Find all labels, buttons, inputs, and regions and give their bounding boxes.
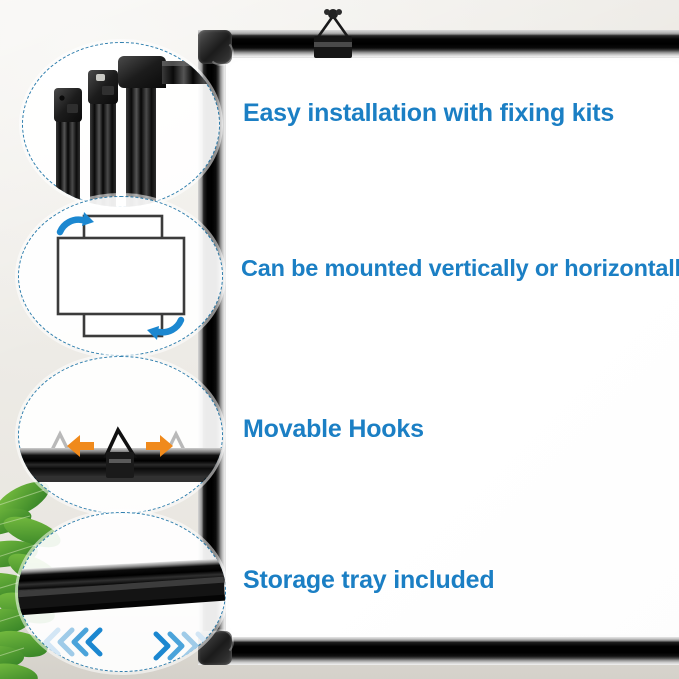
rotate-orientation-icon xyxy=(18,196,223,356)
frame-corner-brackets-icon xyxy=(22,42,220,207)
feature-label-fixing-kits: Easy installation with fixing kits xyxy=(243,99,614,128)
callout-storage-tray xyxy=(18,512,226,672)
callout-orientation xyxy=(18,196,223,356)
product-infographic: Easy installation with fixing kits Can b… xyxy=(0,0,679,679)
callout-movable-hooks xyxy=(18,356,223,514)
frame-rail-top xyxy=(198,30,679,58)
callout-fixing-kits xyxy=(22,42,220,207)
feature-label-movable-hooks: Movable Hooks xyxy=(243,415,424,444)
whiteboard-surface xyxy=(212,44,679,651)
frame-rail-bottom xyxy=(198,637,679,665)
feature-label-storage-tray: Storage tray included xyxy=(243,566,494,595)
marker-tray-icon xyxy=(18,512,226,672)
sliding-hooks-icon xyxy=(18,356,223,514)
triangle-hanger-hook-icon xyxy=(308,6,358,58)
feature-label-orientation: Can be mounted vertically or horizontall… xyxy=(241,255,679,282)
